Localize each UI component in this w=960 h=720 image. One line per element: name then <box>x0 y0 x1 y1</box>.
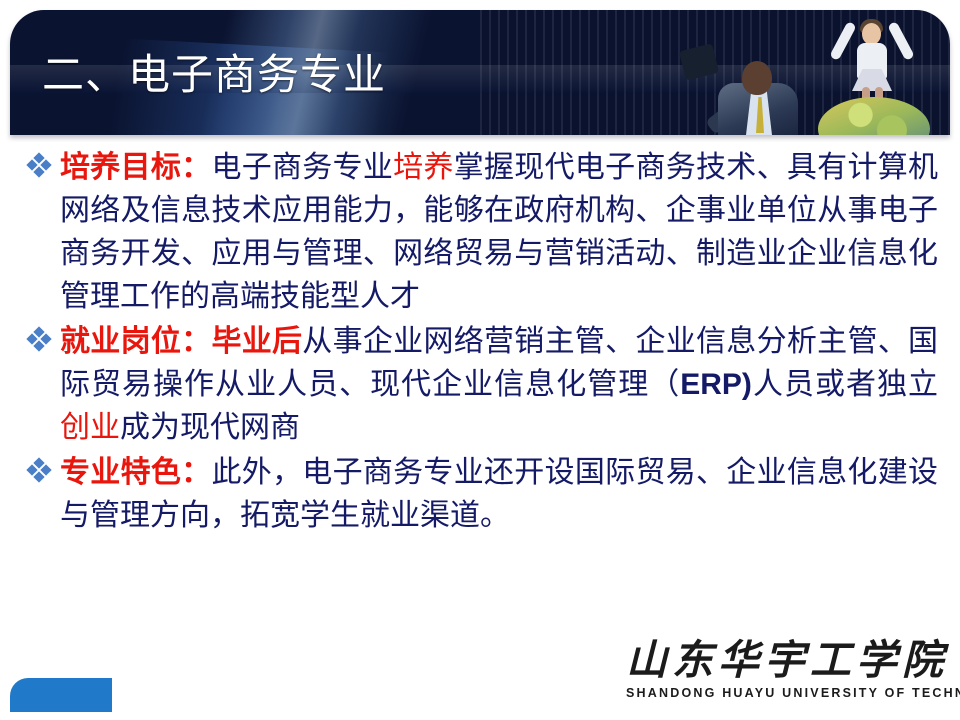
bullet-seg-1-0: 电子商务专业 <box>211 151 393 184</box>
slide-header-banner: 二、电子商务专业 <box>10 10 950 135</box>
bullet-seg-2-0: 毕业后 <box>211 325 302 358</box>
bullet-seg-2-erp: ERP) <box>680 368 752 401</box>
woman-right-arm <box>887 21 915 61</box>
university-logo: 山东华宇工学院 SHANDONG HUAYU UNIVERSITY OF TEC… <box>626 634 948 714</box>
businessman-device <box>679 43 719 80</box>
bullet-paragraph-training-goal: 培养目标：电子商务专业培养掌握现代电子商务技术、具有计算机网络及信息技术应用能力… <box>60 146 938 318</box>
bullet-seg-2-4: 创业 <box>60 411 120 444</box>
bullet-paragraph-program-features: 专业特色：此外，电子商务专业还开设国际贸易、企业信息化建设与管理方向，拓宽学生就… <box>60 451 938 537</box>
bullet-seg-1-1: 培养 <box>393 151 454 184</box>
bullet-item-training-goal: 培养目标：电子商务专业培养掌握现代电子商务技术、具有计算机网络及信息技术应用能力… <box>26 146 938 318</box>
bullet-seg-2-5: 成为现代网商 <box>120 411 300 444</box>
bullet-label-program-features: 专业特色： <box>60 456 211 489</box>
university-logo-chinese-name: 山东华宇工学院 <box>626 634 948 686</box>
bullet-label-employment-positions: 就业岗位： <box>60 325 211 358</box>
businessman-head <box>742 61 772 95</box>
bullet-item-employment-positions: 就业岗位：毕业后从事企业网络营销主管、企业信息分析主管、国际贸易操作从业人员、现… <box>26 320 938 449</box>
diamond-cluster-bullet-icon <box>28 459 50 481</box>
university-logo-english-name: SHANDONG HUAYU UNIVERSITY OF TECHNOLOGY <box>626 686 948 701</box>
page-title: 二、电子商务专业 <box>42 54 386 96</box>
woman-on-globe-figure-icon <box>812 17 932 135</box>
bullet-label-training-goal: 培养目标： <box>60 151 211 184</box>
bullet-paragraph-employment-positions: 就业岗位：毕业后从事企业网络营销主管、企业信息分析主管、国际贸易操作从业人员、现… <box>60 320 938 449</box>
bullet-seg-2-3: 人员或者独立 <box>752 368 938 401</box>
presentation-slide: 二、电子商务专业 培养目标：电子商务专业培养掌握现代电子商务技术、具有计算机网络… <box>0 0 960 720</box>
businessman-figure-icon <box>680 43 830 135</box>
diamond-cluster-bullet-icon <box>28 328 50 350</box>
globe-icon <box>818 97 930 135</box>
diamond-cluster-bullet-icon <box>28 154 50 176</box>
slide-body: 培养目标：电子商务专业培养掌握现代电子商务技术、具有计算机网络及信息技术应用能力… <box>26 146 938 539</box>
woman-left-arm <box>829 21 857 61</box>
bullet-item-program-features: 专业特色：此外，电子商务专业还开设国际贸易、企业信息化建设与管理方向，拓宽学生就… <box>26 451 938 537</box>
woman-head <box>862 23 881 45</box>
